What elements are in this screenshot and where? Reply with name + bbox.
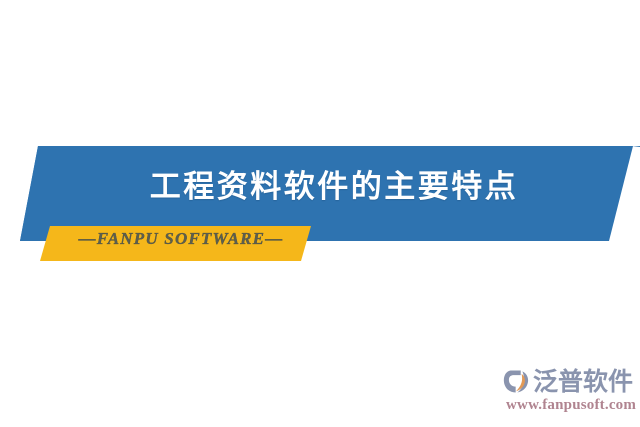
logo-company-name: 泛普软件 <box>533 368 633 395</box>
banner-group: 工程资料软件的主要特点 —FANPU SOFTWARE— <box>0 0 640 290</box>
page-title: 工程资料软件的主要特点 <box>0 166 640 208</box>
logo-website-url: www.fanpusoft.com <box>506 397 636 414</box>
fanpu-leaf-logo-icon <box>503 368 530 395</box>
slide-canvas: 工程资料软件的主要特点 —FANPU SOFTWARE— 泛普软件 www.fa… <box>0 0 640 427</box>
logo-row: 泛普软件 <box>503 366 633 397</box>
banner-tagline: —FANPU SOFTWARE— <box>56 229 306 249</box>
company-logo: 泛普软件 www.fanpusoft.com <box>503 366 637 418</box>
